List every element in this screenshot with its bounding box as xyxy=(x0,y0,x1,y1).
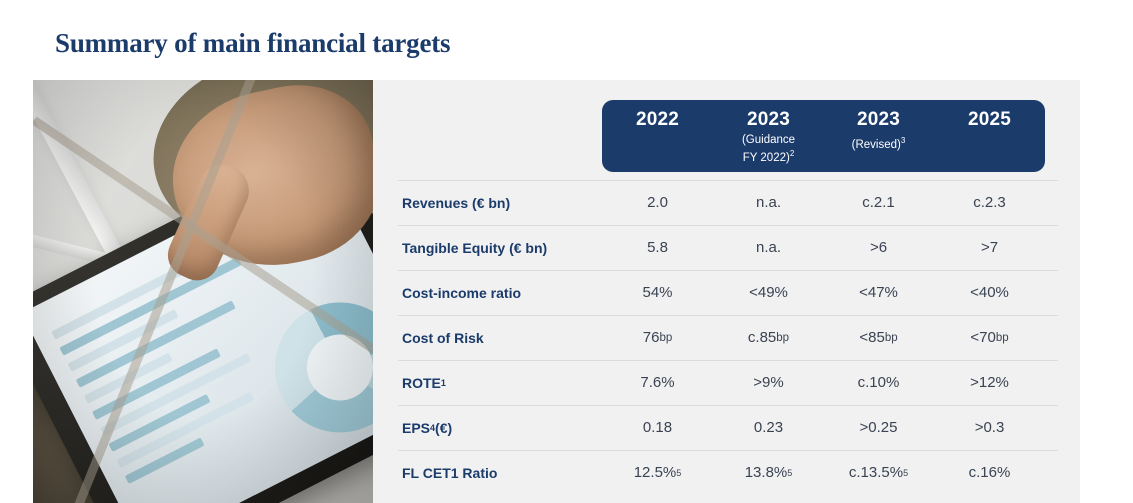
table-row: EPS4 (€)0.180.23>0.25>0.3 xyxy=(396,405,1080,450)
table-cell: 0.23 xyxy=(713,405,824,450)
table-cell: 54% xyxy=(602,270,713,315)
table-cell: 2.0 xyxy=(602,180,713,225)
table-cell: c.2.1 xyxy=(823,180,934,225)
table-cell: >0.3 xyxy=(934,405,1045,450)
table-cell: c.10% xyxy=(823,360,934,405)
table-cell: >12% xyxy=(934,360,1045,405)
table-cell: c.85bp xyxy=(713,315,824,360)
table-cell: 5.8 xyxy=(602,225,713,270)
table-header-cell: 2023(GuidanceFY 2022)2 xyxy=(713,100,824,172)
table-cell: c.2.3 xyxy=(934,180,1045,225)
header-subtitle: (Revised)3 xyxy=(852,134,906,152)
table-cell: <85bp xyxy=(823,315,934,360)
row-label: FL CET1 Ratio xyxy=(402,450,497,495)
table-row: Revenues (€ bn)2.0n.a.c.2.1c.2.3 xyxy=(396,180,1080,225)
header-subtitle: (GuidanceFY 2022)2 xyxy=(742,134,795,165)
table-cell: c.13.5%5 xyxy=(823,450,934,495)
table-row: Cost-income ratio54%<49%<47%<40% xyxy=(396,270,1080,315)
table-header-cell: 2023(Revised)3 xyxy=(823,100,934,172)
row-label: ROTE1 xyxy=(402,360,446,405)
header-year: 2023 xyxy=(857,109,900,131)
table-header-cell: 2022 xyxy=(602,100,713,172)
table-cell: 13.8%5 xyxy=(713,450,824,495)
table-row: FL CET1 Ratio12.5%513.8%5c.13.5%5c.16% xyxy=(396,450,1080,495)
row-label: Revenues (€ bn) xyxy=(402,180,510,225)
table-cell: >6 xyxy=(823,225,934,270)
header-year: 2023 xyxy=(747,109,790,131)
table-cell: >7 xyxy=(934,225,1045,270)
table-cell: 76bp xyxy=(602,315,713,360)
row-label: Cost-income ratio xyxy=(402,270,521,315)
table-cell: <47% xyxy=(823,270,934,315)
table-cell: n.a. xyxy=(713,225,824,270)
table-cell: 12.5%5 xyxy=(602,450,713,495)
table-header-cell: 2025 xyxy=(934,100,1045,172)
slide-root: Summary of main financial targets xyxy=(0,0,1133,503)
table-cell: <40% xyxy=(934,270,1045,315)
tablet-photo xyxy=(33,80,373,503)
page-title: Summary of main financial targets xyxy=(55,28,450,59)
row-label: Cost of Risk xyxy=(402,315,484,360)
table-row: ROTE17.6%>9%c.10%>12% xyxy=(396,360,1080,405)
table-cell: n.a. xyxy=(713,180,824,225)
table-cell: c.16% xyxy=(934,450,1045,495)
header-year: 2025 xyxy=(968,109,1011,131)
financial-targets-table: 20222023(GuidanceFY 2022)22023(Revised)3… xyxy=(396,80,1080,503)
header-year: 2022 xyxy=(636,109,679,131)
table-cell: >9% xyxy=(713,360,824,405)
photo-vignette xyxy=(33,80,373,503)
table-row: Cost of Risk76bpc.85bp<85bp<70bp xyxy=(396,315,1080,360)
table-cell: >0.25 xyxy=(823,405,934,450)
row-label: EPS4 (€) xyxy=(402,405,452,450)
table-row: Tangible Equity (€ bn)5.8n.a.>6>7 xyxy=(396,225,1080,270)
table-cell: 7.6% xyxy=(602,360,713,405)
table-cell: <70bp xyxy=(934,315,1045,360)
row-label: Tangible Equity (€ bn) xyxy=(402,225,547,270)
table-cell: 0.18 xyxy=(602,405,713,450)
table-cell: <49% xyxy=(713,270,824,315)
